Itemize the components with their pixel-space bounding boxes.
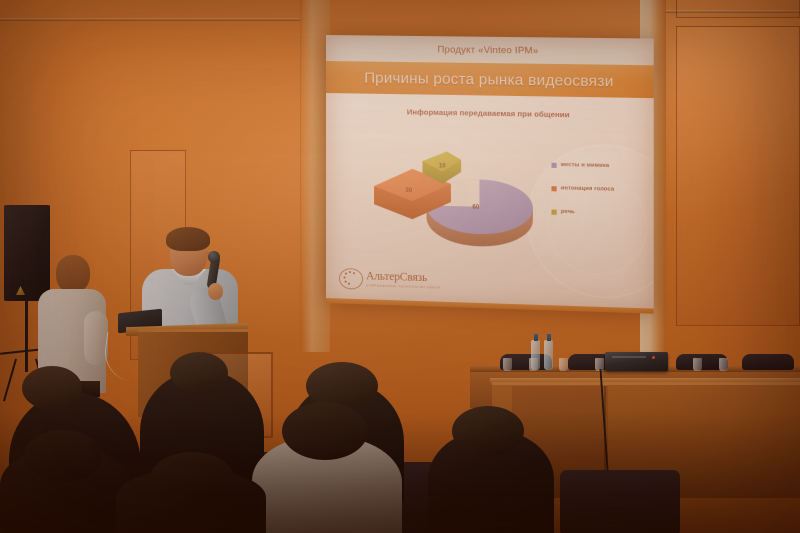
drinking-glass-5 bbox=[693, 358, 702, 371]
audience-head-left bbox=[170, 352, 228, 394]
logo-tagline: СОВРЕМЕННЫЕ ТЕХНОЛОГИИ СВЯЗИ bbox=[366, 284, 440, 289]
tripod-pole bbox=[25, 300, 28, 372]
projector-power-led-icon bbox=[652, 356, 655, 359]
pie-value-speech: 10 bbox=[439, 163, 446, 169]
drinking-glass-3 bbox=[559, 358, 568, 371]
legend-item-speech: речь bbox=[551, 209, 651, 218]
logo-circle-icon bbox=[338, 265, 364, 292]
slide-body: Информация передаваемая при общении bbox=[326, 93, 654, 314]
standing-attendee-head bbox=[56, 255, 90, 293]
legend-item-gestures: жесты и мимика bbox=[551, 162, 651, 170]
slide-title-band: Причины роста рынка видеосвязи bbox=[326, 61, 654, 98]
drinking-glass-6 bbox=[719, 358, 728, 371]
chart-title: Информация передаваемая при общении bbox=[326, 106, 654, 121]
pie-chart-svg: 60 30 10 bbox=[368, 142, 537, 255]
legend-label-speech: речь bbox=[561, 209, 575, 215]
logo-text: АльтерСвязь СОВРЕМЕННЫЕ ТЕХНОЛОГИИ СВЯЗИ bbox=[366, 271, 440, 289]
slide-header-label: Продукт «Vinteo IPM» bbox=[437, 44, 538, 56]
legend-swatch-intonation bbox=[551, 186, 556, 191]
legend-item-intonation: интонация голоса bbox=[551, 185, 651, 193]
presentation-photo: Продукт «Vinteo IPM» Причины роста рынка… bbox=[0, 0, 800, 533]
pie-value-intonation: 30 bbox=[405, 188, 412, 194]
wall-trim-line-left bbox=[0, 18, 300, 21]
pie-chart: 60 30 10 bbox=[368, 142, 537, 255]
chart-legend: жесты и мимика интонация голоса речь bbox=[551, 162, 651, 235]
pie-value-gestures: 60 bbox=[472, 205, 479, 211]
water-bottle-2 bbox=[544, 340, 553, 370]
drinking-glass-1 bbox=[503, 358, 512, 371]
presenter-hair bbox=[166, 227, 210, 251]
chair-back-4 bbox=[742, 354, 794, 370]
legend-swatch-speech bbox=[551, 209, 556, 214]
company-logo: АльтерСвязь СОВРЕМЕННЫЕ ТЕХНОЛОГИИ СВЯЗИ bbox=[338, 265, 440, 294]
presenter-hand bbox=[208, 283, 223, 300]
slide: Продукт «Vinteo IPM» Причины роста рынка… bbox=[326, 35, 654, 314]
legend-label-intonation: интонация голоса bbox=[561, 185, 614, 192]
slide-title: Причины роста рынка видеосвязи bbox=[364, 69, 613, 90]
foreground-shadow bbox=[0, 413, 800, 533]
drinking-glass-2 bbox=[529, 358, 538, 371]
wall-panel-right-top bbox=[676, 0, 800, 18]
projector-vent bbox=[612, 356, 646, 358]
microphone-capsule bbox=[208, 251, 220, 263]
audience-head-far-left bbox=[22, 366, 82, 410]
projection-screen: Продукт «Vinteo IPM» Причины роста рынка… bbox=[326, 35, 654, 314]
legend-swatch-gestures bbox=[551, 162, 556, 167]
legend-label-gestures: жесты и мимика bbox=[561, 162, 609, 169]
wall-panel-right bbox=[676, 26, 800, 326]
